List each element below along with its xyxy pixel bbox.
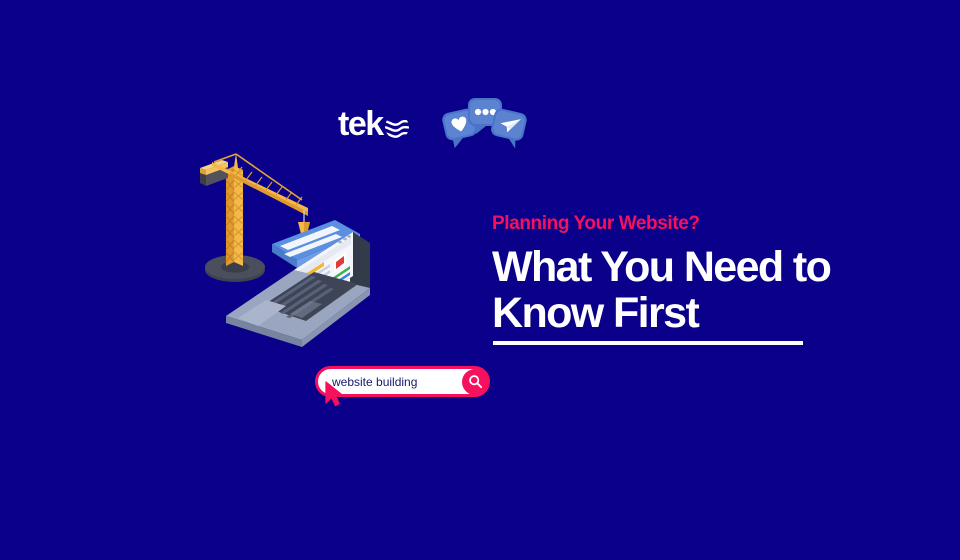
striped-circle-logo-mark: [384, 114, 410, 140]
title-underline-rule: [493, 341, 803, 345]
eyebrow-text: Planning Your Website?: [492, 214, 912, 235]
logo-wordmark: tek: [338, 107, 383, 141]
website-under-construction-illustration: [190, 148, 405, 373]
mouse-pointer-icon: [324, 381, 346, 407]
brand-row: tek: [338, 98, 538, 150]
search-icon: [468, 374, 483, 389]
poster-canvas: tek: [0, 0, 960, 560]
page-title: What You Need to Know First: [492, 244, 912, 337]
search-button[interactable]: [462, 369, 488, 395]
social-chat-bubbles-group: [438, 94, 530, 150]
headline-block: Planning Your Website? What You Need to …: [492, 214, 912, 337]
